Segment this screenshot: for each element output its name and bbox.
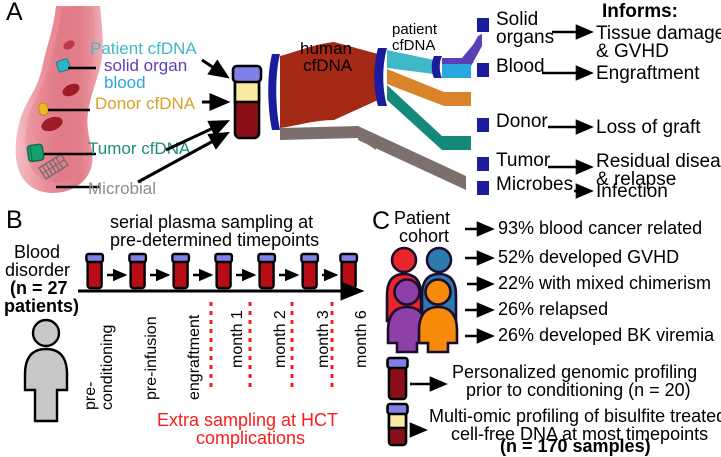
panelb-subject-line3: (n = 27 — [10, 279, 68, 297]
outcome-source-solid-organs-line2: organs — [496, 28, 554, 47]
blood-collection-tube — [232, 66, 266, 142]
panelc-note1-line1: Personalized genomic profiling — [452, 363, 697, 381]
arrow-patient — [202, 60, 226, 76]
patient-silhouette-icon — [17, 318, 77, 423]
tumor-cell-icon — [27, 144, 44, 162]
figure-canvas: A — [0, 0, 721, 457]
panelc-stat-3: 26% relapsed — [498, 300, 608, 318]
panelc-cohort-line2: cohort — [399, 227, 449, 245]
extra-sampling-line2: complications — [196, 429, 305, 447]
extra-sampling-line1: Extra sampling at HCT — [157, 411, 338, 429]
panel-c-letter: C — [372, 209, 390, 235]
node-human-cfdna-navy — [374, 48, 387, 106]
informs-result-solid-organs-line2: & GVHD — [596, 42, 669, 61]
panelc-stat-0: 93% blood cancer related — [498, 219, 702, 237]
panelc-stat-4: 26% developed BK viremia — [498, 326, 714, 344]
cap-blood — [477, 63, 489, 77]
panelb-subject-line4: patients) — [4, 297, 79, 315]
ribbon-microbial — [358, 126, 466, 190]
timepoint-label-4: month 2 — [273, 310, 289, 368]
timepoint-label-2: engraftment — [187, 315, 203, 400]
human-cfdna-label-line2: cfDNA — [303, 57, 352, 74]
timepoint-label-0a: pre- — [83, 382, 99, 410]
patient-cfdna-node-label-line2: cfDNA — [392, 38, 435, 53]
node-source-navy — [268, 54, 280, 130]
panelc-stat-2: 22% with mixed chimerism — [498, 274, 711, 292]
panelc-cohort-line1: Patient — [394, 209, 450, 227]
timepoint-label-6: month 6 — [354, 310, 370, 368]
human-cfdna-label-line1: human — [300, 40, 352, 57]
outcome-navy-caps — [477, 10, 493, 202]
timepoint-label-1: pre-infusion — [144, 316, 160, 400]
patient-cohort-group-icon — [380, 245, 468, 353]
panelc-note2-line3: (n = 170 samples) — [500, 437, 651, 455]
sample-collection-arrows — [160, 50, 240, 200]
timepoint-label-3: month 1 — [230, 310, 246, 368]
informs-result-microbes: Infection — [596, 182, 668, 201]
patient-cfdna-node-label-line1: patient — [392, 22, 437, 37]
outcome-source-blood: Blood — [496, 57, 545, 76]
cap-microbes — [477, 181, 489, 195]
timepoint-label-0b: conditioning — [100, 325, 116, 410]
cap-solid-organs — [477, 18, 489, 32]
panelb-subject-line1: Blood — [14, 243, 60, 261]
cap-tumor — [477, 157, 489, 171]
informs-result-blood: Engraftment — [596, 64, 700, 83]
panelb-subject-line2: disorder — [5, 261, 70, 279]
panelc-note1-line2: prior to conditioning (n = 20) — [466, 381, 691, 399]
informs-result-donor: Loss of graft — [596, 118, 701, 137]
blood-label: blood — [104, 74, 146, 91]
outcome-source-donor: Donor — [496, 112, 548, 131]
timepoint-label-5: month 3 — [316, 310, 332, 368]
panel-b-letter: B — [6, 208, 23, 234]
panelb-heading-line2: pre-determined timepoints — [110, 231, 319, 249]
node-patient-cfdna-navy — [432, 56, 442, 78]
cfdna-sankey-flow — [266, 8, 506, 203]
outcome-source-tumor: Tumor — [496, 151, 550, 170]
panelb-heading-line1: serial plasma sampling at — [110, 213, 313, 231]
ribbon-blood — [442, 64, 471, 78]
microbial-label: Microbial — [88, 180, 156, 197]
panelc-stat-1: 52% developed GVHD — [498, 248, 679, 266]
arrow-tumor — [166, 122, 226, 150]
panelc-note2-line1: Multi-omic profiling of bisulfite treate… — [429, 407, 721, 425]
cap-donor — [477, 118, 489, 132]
